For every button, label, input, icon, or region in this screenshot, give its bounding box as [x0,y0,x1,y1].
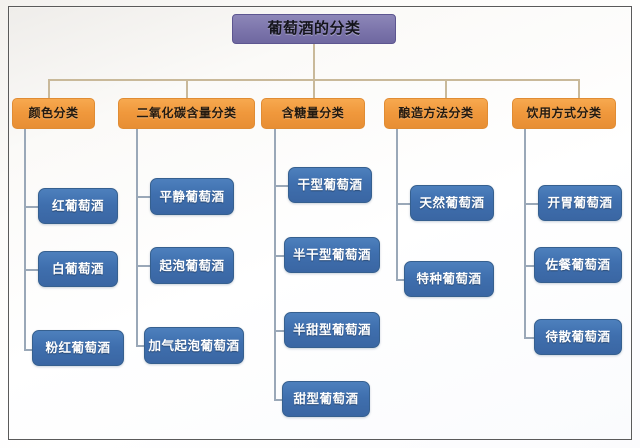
mindmap-canvas: 葡萄酒的分类 颜色分类 红葡萄酒 白葡萄酒 粉红葡萄酒 二氧化碳含量分类 平静葡… [0,0,640,448]
leaf-node-dessert-wine[interactable]: 待散葡萄酒 [534,319,622,355]
root-node[interactable]: 葡萄酒的分类 [232,14,396,44]
leaf-node-aperitif-wine[interactable]: 开胃葡萄酒 [538,185,622,221]
branch-spine-2 [136,129,138,346]
leaf-node-table-wine[interactable]: 佐餐葡萄酒 [534,247,622,283]
root-stem-connector [313,44,315,80]
leaf-node-red-wine[interactable]: 红葡萄酒 [38,188,118,224]
leaf-node-white-wine[interactable]: 白葡萄酒 [38,251,118,287]
branch-spine-4 [396,129,398,280]
root-drop-connector-4 [445,79,447,98]
root-drop-connector-1 [48,79,50,98]
branch-spine-5 [524,129,526,338]
leaf-node-semi-dry-wine[interactable]: 半干型葡萄酒 [284,237,380,273]
leaf-node-semi-sweet-wine[interactable]: 半甜型葡萄酒 [284,312,380,348]
root-drop-connector-2 [186,79,188,98]
category-node-color[interactable]: 颜色分类 [12,98,95,129]
root-drop-connector-5 [578,79,580,98]
leaf-node-dry-wine[interactable]: 干型葡萄酒 [288,167,372,203]
leaf-node-sparkling-wine[interactable]: 起泡葡萄酒 [150,247,234,284]
category-node-sugar[interactable]: 含糖量分类 [261,98,365,129]
leaf-node-special-wine[interactable]: 特种葡萄酒 [404,261,494,297]
leaf-node-still-wine[interactable]: 平静葡萄酒 [150,178,234,215]
category-node-consumption[interactable]: 饮用方式分类 [512,98,616,129]
leaf-node-natural-wine[interactable]: 天然葡萄酒 [410,185,494,221]
category-node-co2[interactable]: 二氧化碳含量分类 [118,98,255,129]
root-drop-connector-3 [313,79,315,98]
leaf-node-carbonated-sparkling-wine[interactable]: 加气起泡葡萄酒 [144,327,244,364]
branch-spine-3 [274,129,276,400]
leaf-node-rose-wine[interactable]: 粉红葡萄酒 [32,330,124,366]
branch-spine-1 [24,129,26,350]
category-node-production[interactable]: 酿造方法分类 [384,98,488,129]
leaf-node-sweet-wine[interactable]: 甜型葡萄酒 [282,381,370,417]
